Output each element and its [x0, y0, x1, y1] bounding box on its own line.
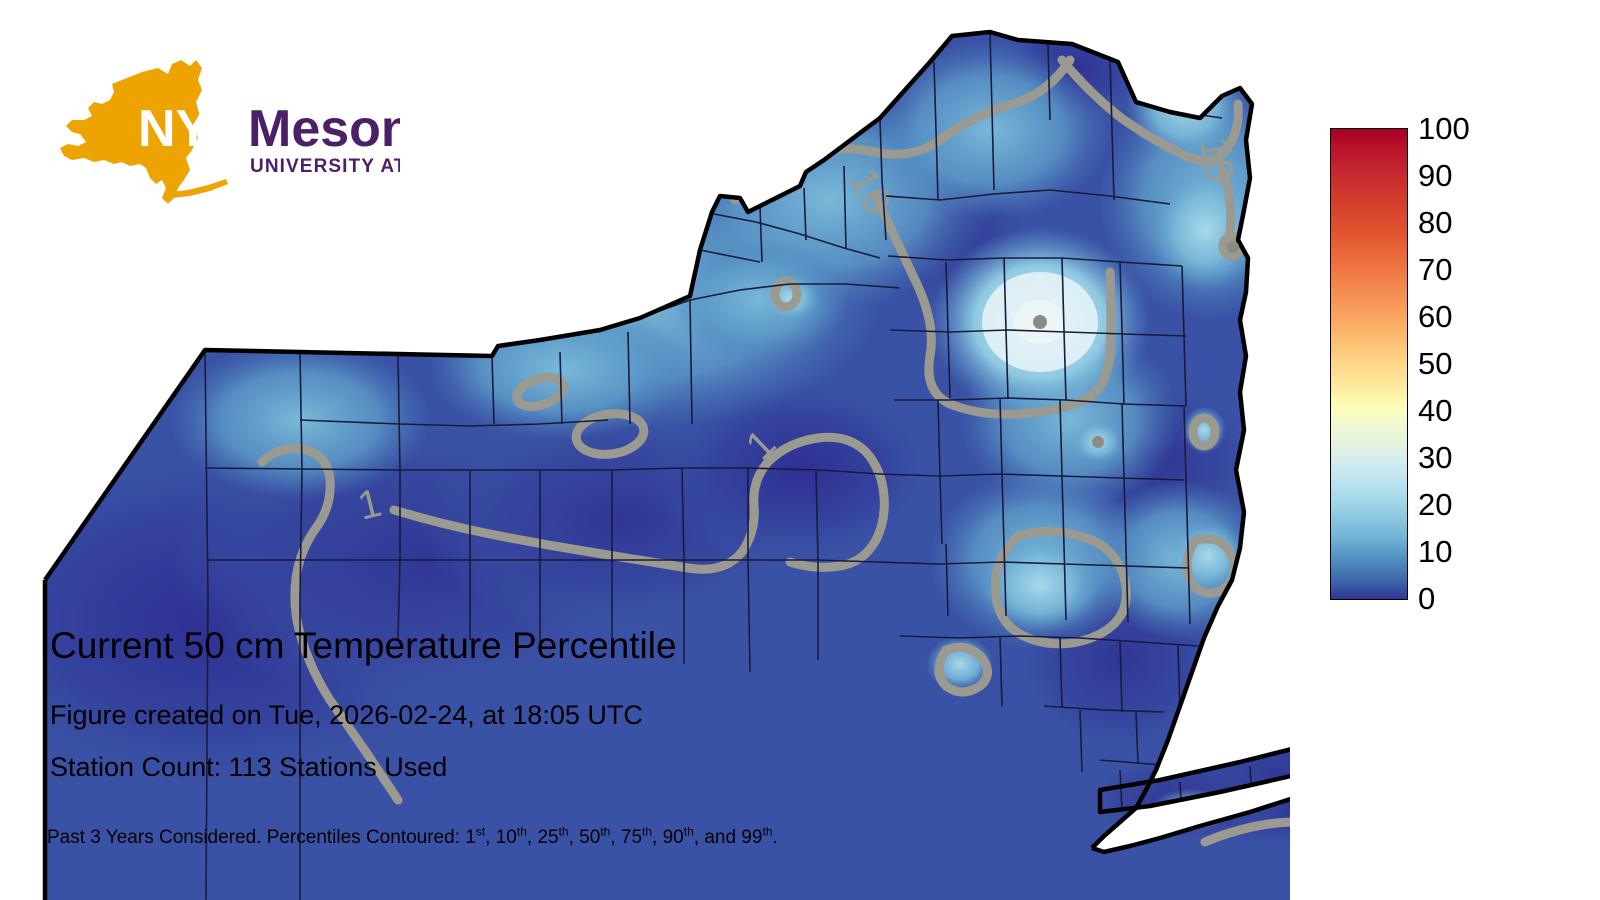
figure-created-timestamp: Figure created on Tue, 2026-02-24, at 18…: [50, 700, 643, 731]
station-marker: [1092, 436, 1104, 448]
footnote-t2: , 25: [527, 827, 559, 848]
colorbar-tick: 0: [1418, 583, 1435, 614]
colorbar-tick: 20: [1418, 489, 1452, 520]
colorbar: 100 90 80 70 60 50 40 30 20 10 0: [1330, 128, 1580, 608]
footnote-ord-10: th: [517, 825, 527, 839]
colorbar-gradient: [1330, 128, 1408, 600]
colorbar-tick: 70: [1418, 254, 1452, 285]
footnote-t6: , and 99: [694, 827, 763, 848]
colorbar-tick: 60: [1418, 301, 1452, 332]
footnote-ord-50: th: [600, 825, 610, 839]
footnote-t3: , 50: [569, 827, 601, 848]
colorbar-tick: 80: [1418, 207, 1452, 238]
footnote: Past 3 Years Considered. Percentiles Con…: [47, 826, 778, 850]
footnote-ord-1: st: [476, 825, 485, 839]
station-count-text: Station Count: 113 Stations Used: [50, 752, 447, 783]
colorbar-tick: 40: [1418, 395, 1452, 426]
colorbar-tick: 50: [1418, 348, 1452, 379]
station-marker: [1227, 241, 1239, 253]
station-marker: [1033, 315, 1047, 329]
page-title: Current 50 cm Temperature Percentile: [50, 625, 677, 667]
footnote-t4: , 75: [610, 827, 642, 848]
colorbar-tick-labels: 100 90 80 70 60 50 40 30 20 10 0: [1418, 128, 1578, 600]
footnote-ord-75: th: [642, 825, 652, 839]
footnote-ord-90: th: [684, 825, 694, 839]
footnote-ord-25: th: [559, 825, 569, 839]
footnote-t1: , 10: [485, 827, 517, 848]
footnote-suffix: .: [772, 827, 777, 848]
colorbar-tick: 30: [1418, 442, 1452, 473]
colorbar-tick: 90: [1418, 160, 1452, 191]
contour-label-10-east: 10: [1191, 134, 1242, 185]
footnote-ord-99: th: [762, 825, 772, 839]
colorbar-tick: 100: [1418, 113, 1470, 144]
footnote-prefix: Past 3 Years Considered. Percentiles Con…: [47, 827, 476, 848]
footnote-t5: , 90: [652, 827, 684, 848]
colorbar-tick: 10: [1418, 536, 1452, 567]
